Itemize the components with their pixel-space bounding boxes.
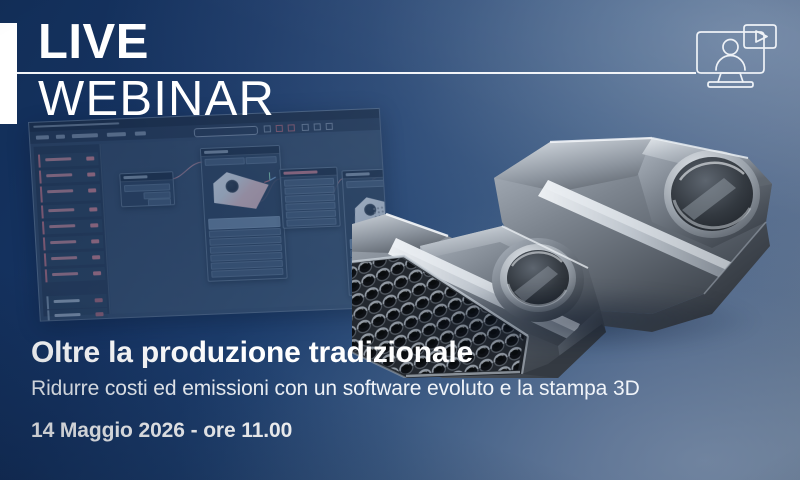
cad-node[interactable] bbox=[119, 171, 175, 207]
cad-node-field[interactable] bbox=[148, 198, 171, 206]
cad-sidebar-row[interactable] bbox=[38, 152, 99, 167]
cad-search-field[interactable] bbox=[194, 125, 258, 137]
video-card-icon bbox=[744, 25, 776, 48]
cad-node-header bbox=[280, 168, 336, 178]
cad-node-field[interactable] bbox=[286, 218, 336, 227]
cad-window bbox=[28, 108, 392, 322]
cad-sidebar-row[interactable] bbox=[44, 251, 105, 266]
cad-node-field[interactable] bbox=[245, 156, 276, 164]
person-avatar-icon bbox=[723, 40, 738, 55]
cad-node-canvas[interactable] bbox=[101, 133, 387, 314]
cad-toolbar-icon[interactable] bbox=[314, 123, 321, 130]
webinar-banner: LIVE WEBINAR Oltre la produzione tradizi… bbox=[0, 0, 800, 480]
cad-sidebar-row[interactable] bbox=[40, 184, 101, 202]
cad-toolbar-icon[interactable] bbox=[276, 125, 283, 132]
headline: Oltre la produzione tradizionale bbox=[31, 336, 473, 370]
cad-menu-item[interactable] bbox=[72, 133, 98, 138]
cad-node[interactable] bbox=[279, 167, 341, 229]
cad-sidebar bbox=[33, 144, 110, 316]
cad-toolbar-icon[interactable] bbox=[264, 125, 271, 132]
webinar-monitor-person-video-icon bbox=[688, 22, 780, 96]
webinar-label: WEBINAR bbox=[38, 73, 275, 125]
cad-toolbar-icon[interactable] bbox=[302, 124, 309, 131]
cad-toolbar-icon[interactable] bbox=[288, 124, 295, 131]
cad-sidebar-row[interactable] bbox=[42, 219, 103, 234]
cad-menu-item[interactable] bbox=[56, 135, 65, 139]
cad-sidebar-row[interactable] bbox=[39, 168, 100, 183]
cad-node-field[interactable] bbox=[211, 268, 283, 278]
cad-menu-item[interactable] bbox=[36, 135, 49, 140]
cad-menu-item[interactable] bbox=[107, 132, 126, 137]
live-label: LIVE bbox=[38, 18, 149, 67]
cad-part-hole bbox=[225, 179, 240, 194]
accent-bar bbox=[0, 23, 17, 124]
cad-toolbar-icon[interactable] bbox=[326, 123, 333, 130]
cad-sidebar-row[interactable] bbox=[46, 294, 107, 309]
cad-node-field[interactable] bbox=[205, 157, 245, 166]
cad-software-screenshot bbox=[28, 108, 392, 322]
monitor-icon bbox=[697, 32, 764, 73]
cad-sidebar-row[interactable] bbox=[43, 235, 104, 250]
cad-axis-gizmo bbox=[262, 170, 277, 183]
cad-sidebar-row[interactable] bbox=[45, 267, 106, 282]
cad-menu-item[interactable] bbox=[135, 131, 146, 135]
date-time: 14 Maggio 2026 - ore 11.00 bbox=[31, 418, 292, 444]
subheadline: Ridurre costi ed emissioni con un softwa… bbox=[31, 376, 640, 402]
cad-node-header bbox=[120, 172, 172, 182]
cad-node-viewport[interactable] bbox=[200, 145, 288, 282]
cad-sidebar-row[interactable] bbox=[41, 203, 102, 218]
cad-sidebar-row[interactable] bbox=[47, 308, 108, 322]
